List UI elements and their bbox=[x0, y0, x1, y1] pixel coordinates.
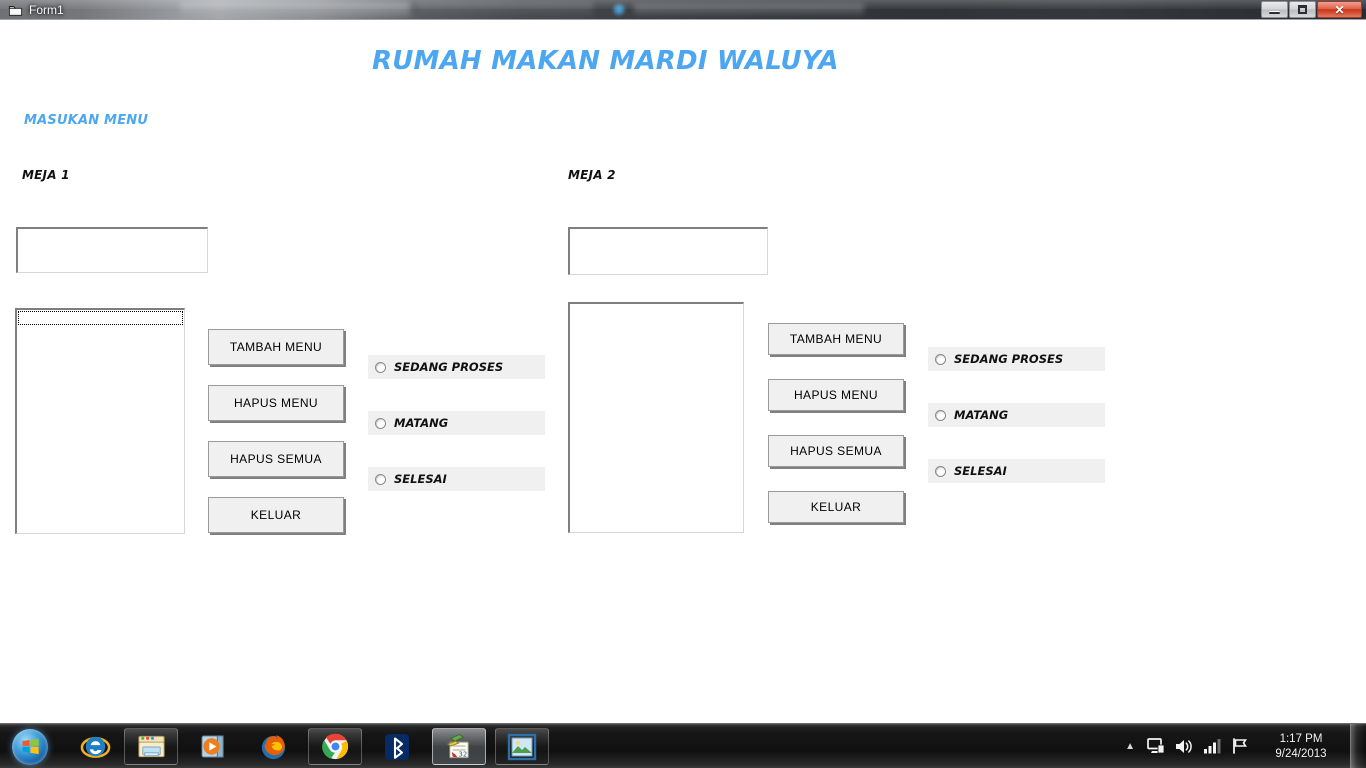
blurred-background-artifact bbox=[418, 2, 593, 18]
radio-icon[interactable] bbox=[375, 418, 386, 429]
form-client-area: RUMAH MAKAN MARDI WALUYA MASUKAN MENU ME… bbox=[0, 21, 1366, 723]
taskbar-item-internet-explorer[interactable] bbox=[68, 728, 122, 765]
action-center-flag-icon[interactable] bbox=[1229, 736, 1251, 758]
taskbar-item-visual-basic[interactable]: 32 bbox=[432, 728, 486, 765]
taskbar-item-google-chrome[interactable] bbox=[308, 728, 362, 765]
radio-icon[interactable] bbox=[935, 410, 946, 421]
start-button[interactable] bbox=[4, 727, 56, 766]
window-title-bar[interactable]: Form1 ✕ bbox=[0, 0, 1366, 20]
meja-1-hapus-semua-button[interactable]: HAPUS SEMUA bbox=[208, 441, 344, 477]
taskbar-item-bluetooth[interactable] bbox=[370, 728, 424, 765]
form-document-icon bbox=[8, 3, 23, 17]
visual-basic-icon: 32 bbox=[444, 732, 475, 762]
svg-text:32: 32 bbox=[458, 750, 467, 758]
meja-1-listbox[interactable] bbox=[15, 308, 185, 534]
system-tray: ▲ bbox=[1121, 724, 1366, 768]
show-desktop-button[interactable] bbox=[1350, 724, 1366, 768]
meja-2-keluar-button[interactable]: KELUAR bbox=[768, 491, 904, 523]
taskbar-item-windows-media-player[interactable] bbox=[186, 728, 240, 765]
taskbar-item-windows-photo-viewer[interactable] bbox=[495, 728, 549, 765]
meja-1-option-selesai[interactable]: SELESAI bbox=[368, 467, 545, 491]
signal-bars-icon[interactable] bbox=[1201, 736, 1223, 758]
minimize-button[interactable] bbox=[1261, 1, 1288, 18]
meja-1-tambah-menu-button[interactable]: TAMBAH MENU bbox=[208, 329, 344, 365]
google-chrome-icon bbox=[320, 731, 351, 762]
meja-1-input[interactable] bbox=[16, 227, 208, 273]
desktop-screen: Form1 ✕ RUMAH MAKAN MARDI WALUYA MASUKAN… bbox=[0, 0, 1366, 768]
clock[interactable]: 1:17 PM 9/24/2013 bbox=[1258, 732, 1344, 762]
meja-2-listbox[interactable] bbox=[568, 302, 744, 533]
meja-1-option-sedang-proses[interactable]: SEDANG PROSES bbox=[368, 355, 545, 379]
windows-media-player-icon bbox=[199, 732, 228, 761]
meja-1-hapus-menu-button[interactable]: HAPUS MENU bbox=[208, 385, 344, 421]
section-label: MASUKAN MENU bbox=[24, 113, 148, 128]
restore-icon bbox=[1298, 5, 1307, 14]
blurred-background-artifact bbox=[634, 4, 864, 15]
windows-photo-viewer-icon bbox=[507, 733, 537, 761]
close-icon: ✕ bbox=[1334, 4, 1344, 16]
windows-explorer-icon bbox=[136, 733, 167, 761]
clock-date: 9/24/2013 bbox=[1258, 747, 1344, 762]
bluetooth-icon bbox=[383, 732, 411, 762]
blurred-background-artifact bbox=[180, 2, 410, 17]
taskbar-item-firefox[interactable] bbox=[246, 728, 300, 765]
minimize-icon bbox=[1269, 11, 1280, 14]
meja-2-tambah-menu-button[interactable]: TAMBAH MENU bbox=[768, 323, 904, 355]
option-label: SEDANG PROSES bbox=[394, 360, 503, 374]
meja-2-option-selesai[interactable]: SELESAI bbox=[928, 459, 1105, 483]
option-label: SEDANG PROSES bbox=[954, 352, 1063, 366]
windows-start-orb-icon bbox=[12, 729, 48, 765]
close-button[interactable]: ✕ bbox=[1317, 1, 1362, 18]
option-label: MATANG bbox=[394, 416, 448, 430]
option-label: MATANG bbox=[954, 408, 1008, 422]
meja-2-input[interactable] bbox=[568, 227, 768, 275]
radio-icon[interactable] bbox=[375, 362, 386, 373]
option-label: SELESAI bbox=[954, 464, 1007, 478]
restore-button[interactable] bbox=[1289, 1, 1316, 18]
meja-2-hapus-semua-button[interactable]: HAPUS SEMUA bbox=[768, 435, 904, 467]
radio-icon[interactable] bbox=[935, 466, 946, 477]
listbox-focus-row bbox=[18, 311, 183, 325]
option-label: SELESAI bbox=[394, 472, 447, 486]
meja-1-option-matang[interactable]: MATANG bbox=[368, 411, 545, 435]
meja-2-option-sedang-proses[interactable]: SEDANG PROSES bbox=[928, 347, 1105, 371]
meja-2-option-matang[interactable]: MATANG bbox=[928, 403, 1105, 427]
firefox-icon bbox=[258, 731, 289, 762]
blurred-background-artifact bbox=[612, 3, 626, 16]
window-title-text: Form1 bbox=[29, 2, 64, 18]
radio-icon[interactable] bbox=[935, 354, 946, 365]
meja-2-label: MEJA 2 bbox=[568, 168, 616, 182]
page-title: RUMAH MAKAN MARDI WALUYA bbox=[372, 46, 839, 76]
meja-2-hapus-menu-button[interactable]: HAPUS MENU bbox=[768, 379, 904, 411]
meja-1-label: MEJA 1 bbox=[22, 168, 70, 182]
network-monitor-icon[interactable] bbox=[1145, 736, 1167, 758]
meja-1-keluar-button[interactable]: KELUAR bbox=[208, 497, 344, 533]
internet-explorer-icon bbox=[80, 731, 111, 762]
volume-icon[interactable] bbox=[1173, 736, 1195, 758]
radio-icon[interactable] bbox=[375, 474, 386, 485]
show-hidden-icons-button[interactable]: ▲ bbox=[1125, 741, 1135, 752]
taskbar-item-windows-explorer[interactable] bbox=[124, 728, 178, 765]
clock-time: 1:17 PM bbox=[1258, 732, 1344, 747]
taskbar[interactable]: 32 ▲ bbox=[0, 723, 1366, 768]
